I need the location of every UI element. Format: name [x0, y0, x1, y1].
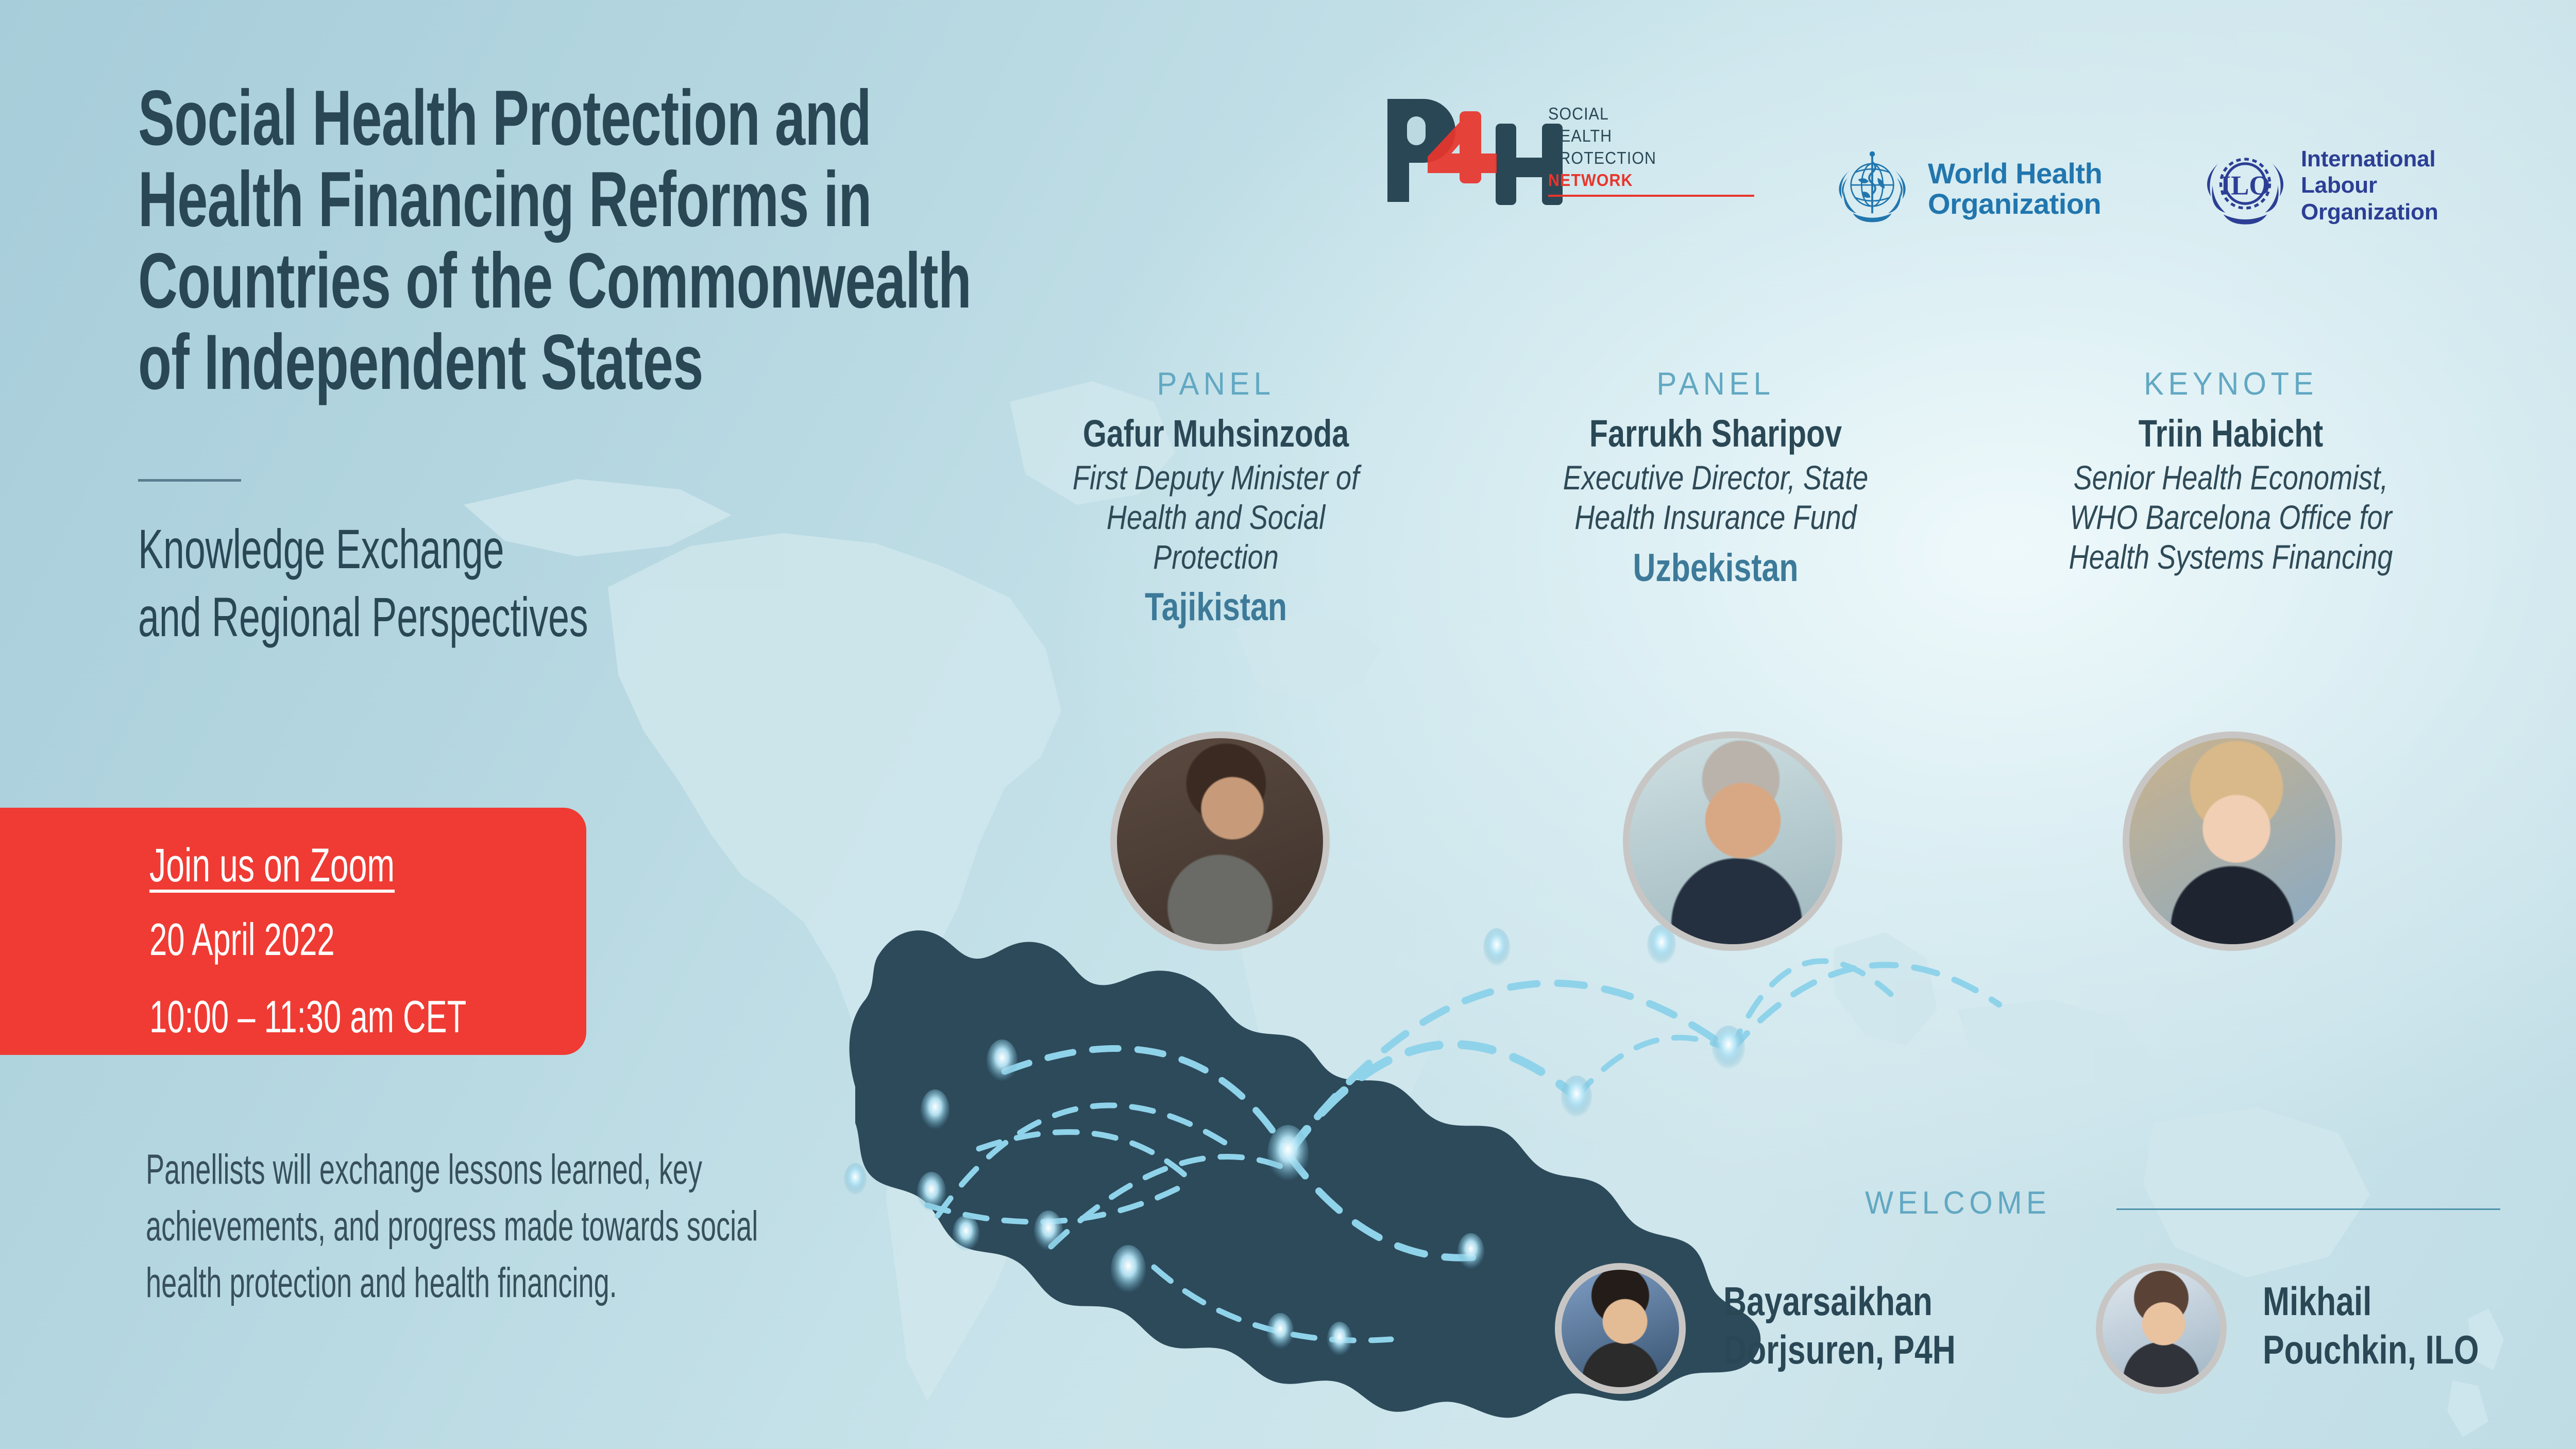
who-emblem-icon — [1828, 144, 1917, 233]
speaker-role-line-2: Health and Social Protection — [1043, 498, 1389, 576]
speaker-name: Gafur Muhsinzoda — [1047, 414, 1385, 454]
speaker-role-line-2: WHO Barcelona Office for — [2041, 498, 2421, 537]
speaker-role-line-1: First Deputy Minister of — [1043, 458, 1389, 498]
speaker-role-line-3: Health Systems Financing — [2041, 537, 2421, 577]
ilo-line-1: International — [2301, 146, 2438, 172]
title-line-1: Social Health Protection and — [138, 77, 1076, 159]
ilo-emblem-icon: ILO — [2200, 140, 2291, 231]
p4h-line-4: NETWORK — [1548, 169, 1681, 192]
speaker-name: Farrukh Sharipov — [1551, 414, 1880, 454]
welcome-host-name-2-line-1: Mikhail — [2263, 1277, 2518, 1326]
p4h-line-2: HEALTH — [1548, 125, 1681, 147]
speaker-kicker: KEYNOTE — [2013, 366, 2449, 402]
speaker-role-line-2: Health Insurance Fund — [1547, 498, 1885, 537]
welcome-host-name-1-line-1: Bayarsaikhan — [1723, 1277, 1979, 1326]
welcome-host-name-1-line-2: Dorjsuren, P4H — [1723, 1326, 1979, 1374]
title-divider — [138, 479, 241, 482]
welcome-host-name-1: Bayarsaikhan Dorjsuren, P4H — [1723, 1277, 1979, 1374]
event-date: 20 April 2022 — [149, 913, 335, 966]
avatar-farrukh-sharipov — [1623, 731, 1842, 951]
who-line-1: World Health — [1928, 158, 2102, 189]
speaker-card-uzbekistan: PANEL Farrukh Sharipov Executive Directo… — [1510, 366, 1922, 590]
p4h-logo-underline — [1548, 195, 1754, 197]
page-title: Social Health Protection and Health Fina… — [138, 77, 1076, 403]
who-logo: World Health Organization — [1828, 144, 2102, 233]
title-line-2: Health Financing Reforms in — [138, 159, 1076, 240]
event-description: Panellists will exchange lessons learned… — [146, 1141, 792, 1311]
title-line-4: of Independent States — [138, 321, 1076, 403]
p4h-logo-wordmark: SOCIAL HEALTH PROTECTION NETWORK — [1548, 103, 1692, 192]
welcome-divider — [2116, 1208, 2500, 1210]
subtitle-block: Knowledge Exchange and Regional Perspect… — [138, 515, 979, 651]
ilo-logo-text: International Labour Organization — [2301, 146, 2438, 225]
svg-text:ILO: ILO — [2221, 171, 2270, 201]
headline-block: Social Health Protection and Health Fina… — [138, 77, 1076, 403]
welcome-host-name-2-line-2: Pouchkin, ILO — [2263, 1326, 2518, 1374]
welcome-label: WELCOME — [1865, 1185, 2050, 1221]
who-logo-text: World Health Organization — [1928, 158, 2102, 219]
poster-canvas: Social Health Protection and Health Fina… — [0, 0, 2576, 1449]
ilo-logo: ILO International Labour Organization — [2200, 140, 2438, 231]
subtitle-line-1: Knowledge Exchange — [138, 515, 979, 583]
avatar-triin-habicht — [2123, 731, 2342, 951]
speaker-role-line-1: Executive Director, State — [1547, 458, 1885, 498]
welcome-host-name-2: Mikhail Pouchkin, ILO — [2263, 1277, 2518, 1374]
speaker-role-line-1: Senior Health Economist, — [2041, 458, 2421, 498]
join-zoom-link[interactable]: Join us on Zoom — [149, 839, 395, 893]
speaker-card-tajikistan: PANEL Gafur Muhsinzoda First Deputy Mini… — [1005, 366, 1427, 629]
avatar-bayarsaikhan-dorjsuren — [1555, 1263, 1686, 1394]
speaker-kicker: PANEL — [1522, 366, 1909, 402]
speaker-card-keynote: KEYNOTE Triin Habicht Senior Health Econ… — [1999, 366, 2463, 576]
p4h-line-1: SOCIAL — [1548, 103, 1681, 125]
ilo-line-2: Labour — [2301, 172, 2438, 198]
avatar-gafur-muhsinzoda — [1110, 731, 1330, 951]
speaker-country: Tajikistan — [1047, 585, 1385, 629]
avatar-mikhail-pouchkin — [2096, 1263, 2227, 1394]
speaker-country: Uzbekistan — [1551, 545, 1880, 590]
who-line-2: Organization — [1928, 189, 2102, 219]
zoom-cta-box[interactable]: Join us on Zoom 20 April 2022 10:00 – 11… — [0, 808, 586, 1055]
event-time: 10:00 – 11:30 am CET — [149, 991, 466, 1043]
subtitle-line-2: and Regional Perspectives — [138, 583, 979, 651]
p4h-line-3: PROTECTION — [1548, 147, 1681, 169]
title-line-3: Countries of the Commonwealth — [138, 240, 1076, 321]
speaker-name: Triin Habicht — [2045, 414, 2416, 454]
ilo-line-3: Organization — [2301, 199, 2438, 225]
speaker-kicker: PANEL — [1018, 366, 1415, 402]
